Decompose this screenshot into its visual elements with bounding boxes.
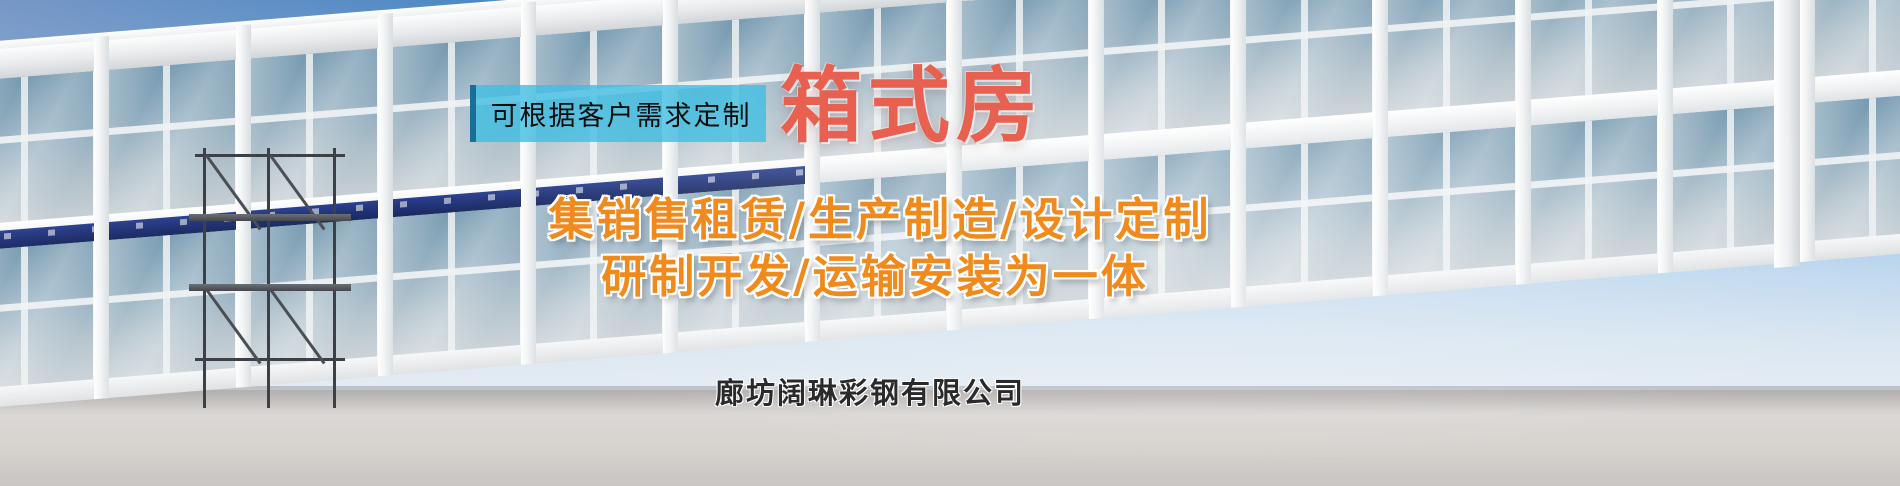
scaffolding [195,148,345,408]
promo-banner: 可根据客户需求定制 箱式房 集销售租赁/生产制造/设计定制 研制开发/运输安装为… [0,0,1900,486]
custom-order-badge: 可根据客户需求定制 [470,85,766,142]
page-title: 箱式房 [780,64,1044,150]
badge-label: 可根据客户需求定制 [491,94,752,133]
